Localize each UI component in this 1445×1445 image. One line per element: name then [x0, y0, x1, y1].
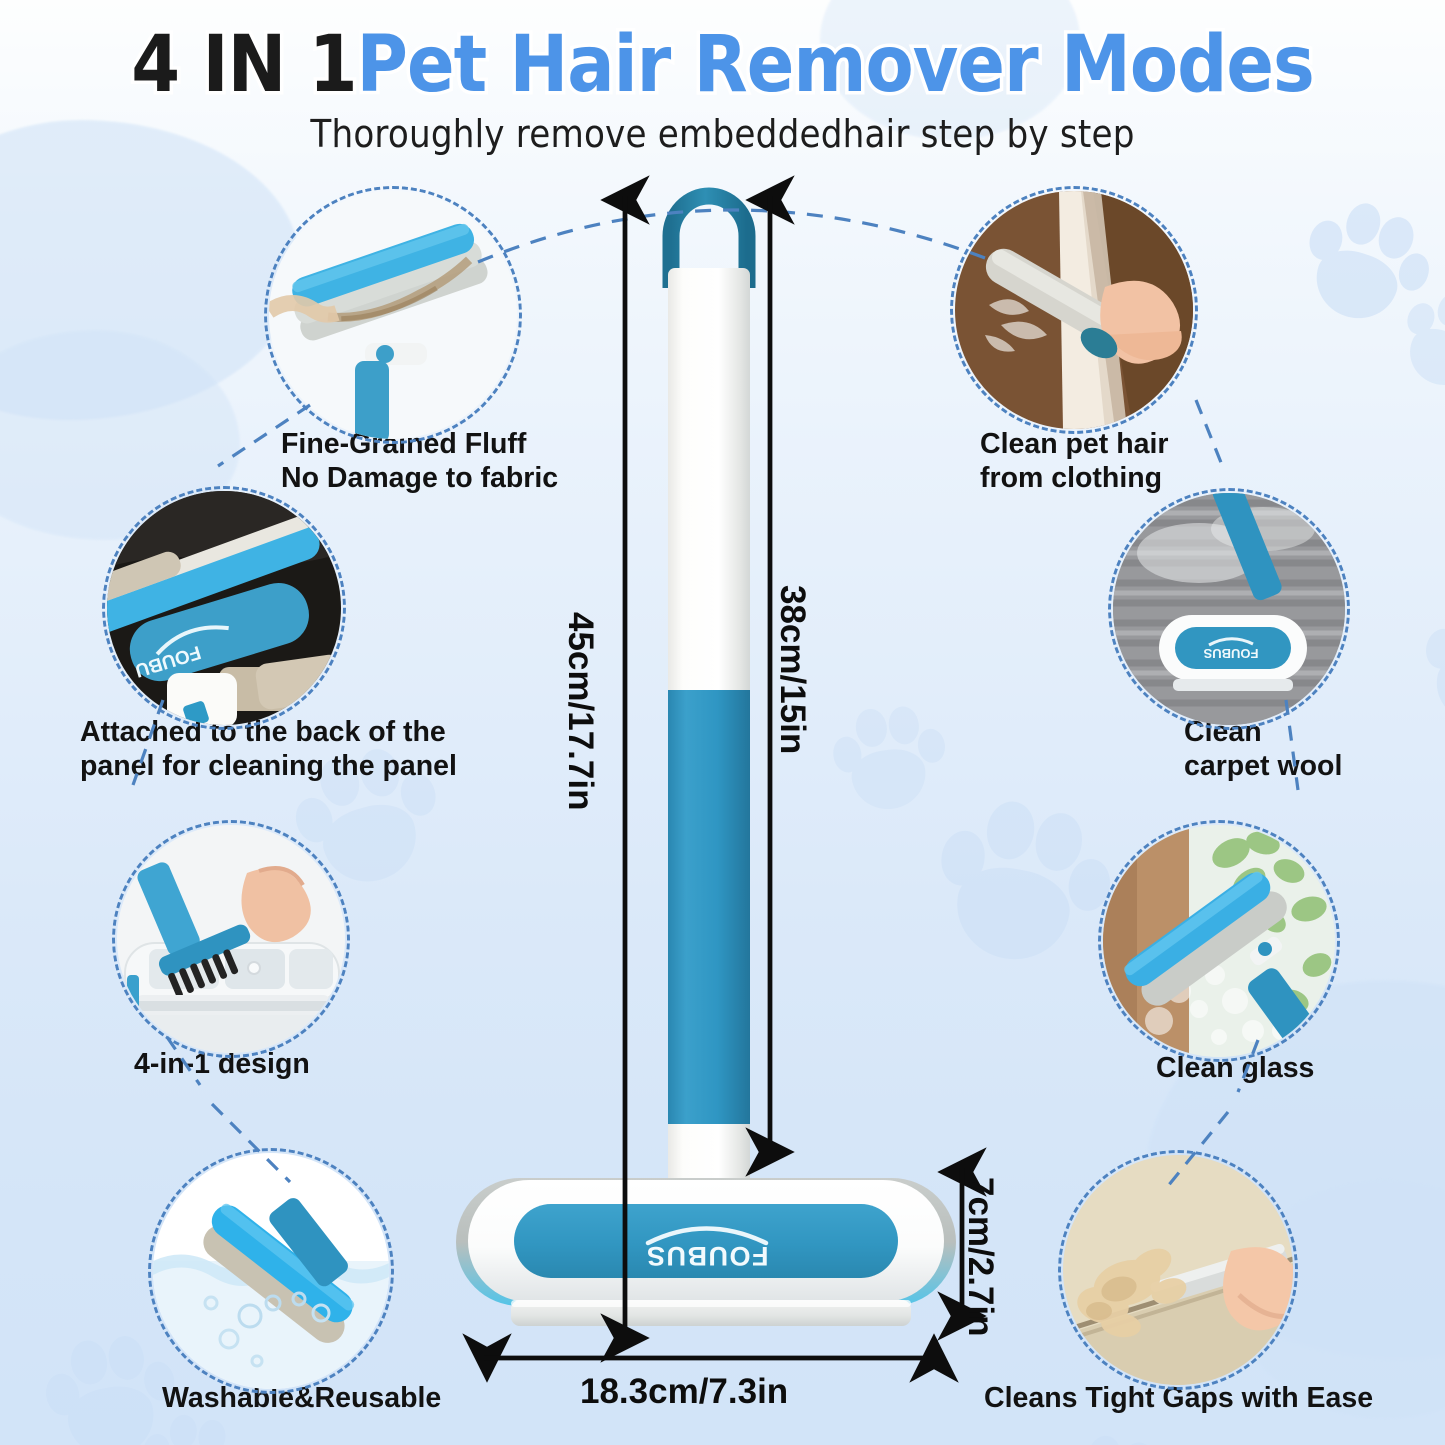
dimension-head-height: 7cm/2.7in: [960, 1177, 1000, 1337]
caption-clean-pet-hair: Clean pet hair from clothing: [980, 428, 1168, 495]
dimension-handle-length: 38cm/15in: [772, 585, 812, 754]
paw-print-icon: [821, 693, 940, 820]
feature-image-attached-to-panel[interactable]: FOUBU: [102, 486, 346, 730]
feature-image-4in1-design[interactable]: [112, 820, 350, 1058]
caption-clean-carpet-wool: Clean carpet wool: [1184, 716, 1342, 783]
caption-fine-grained-fluff: Fine-Grained Fluff No Damage to fabric: [281, 428, 558, 495]
page-subtitle: Thoroughly remove embeddedhair step by s…: [0, 112, 1445, 156]
paw-print-icon: [1406, 589, 1445, 736]
feature-image-clean-pet-hair[interactable]: [950, 186, 1198, 434]
caption-4in1-design: 4-in-1 design: [134, 1048, 310, 1082]
svg-text:FOUBUS: FOUBUS: [1203, 646, 1258, 661]
caption-clean-glass: Clean glass: [1156, 1052, 1314, 1086]
feature-image-washable-reusable[interactable]: [148, 1148, 394, 1394]
page-title: 4 IN 1 Pet Hair Remover Modes: [0, 26, 1445, 104]
caption-clean-tight-gaps: Cleans Tight Gaps with Ease: [984, 1382, 1373, 1416]
caption-washable-reusable: Washable&Reusable: [162, 1382, 441, 1416]
infographic-canvas: 4 IN 1 Pet Hair Remover Modes Thoroughly…: [0, 0, 1445, 1445]
brand-wordmark: FOUBUS: [646, 1241, 769, 1271]
feature-image-clean-tight-gaps[interactable]: [1058, 1150, 1298, 1390]
feature-image-fine-grained-fluff[interactable]: [264, 186, 522, 444]
title-main: Pet Hair Remover Modes: [357, 26, 1314, 104]
top-arc-connector: [478, 210, 985, 262]
feature-image-clean-glass[interactable]: [1098, 820, 1340, 1062]
caption-attached-to-panel: Attached to the back of the panel for cl…: [80, 716, 457, 783]
connector-pet-hair: [1196, 400, 1224, 470]
dimension-head-width: 18.3cm/7.3in: [580, 1372, 788, 1412]
title-prefix: 4 IN 1: [131, 26, 356, 104]
dimension-total-length: 45cm/17.7in: [560, 612, 600, 810]
feature-image-clean-carpet-wool[interactable]: FOUBUS: [1108, 488, 1350, 730]
paw-print-icon: [1042, 1421, 1168, 1445]
paw-print-icon: [916, 777, 1103, 976]
